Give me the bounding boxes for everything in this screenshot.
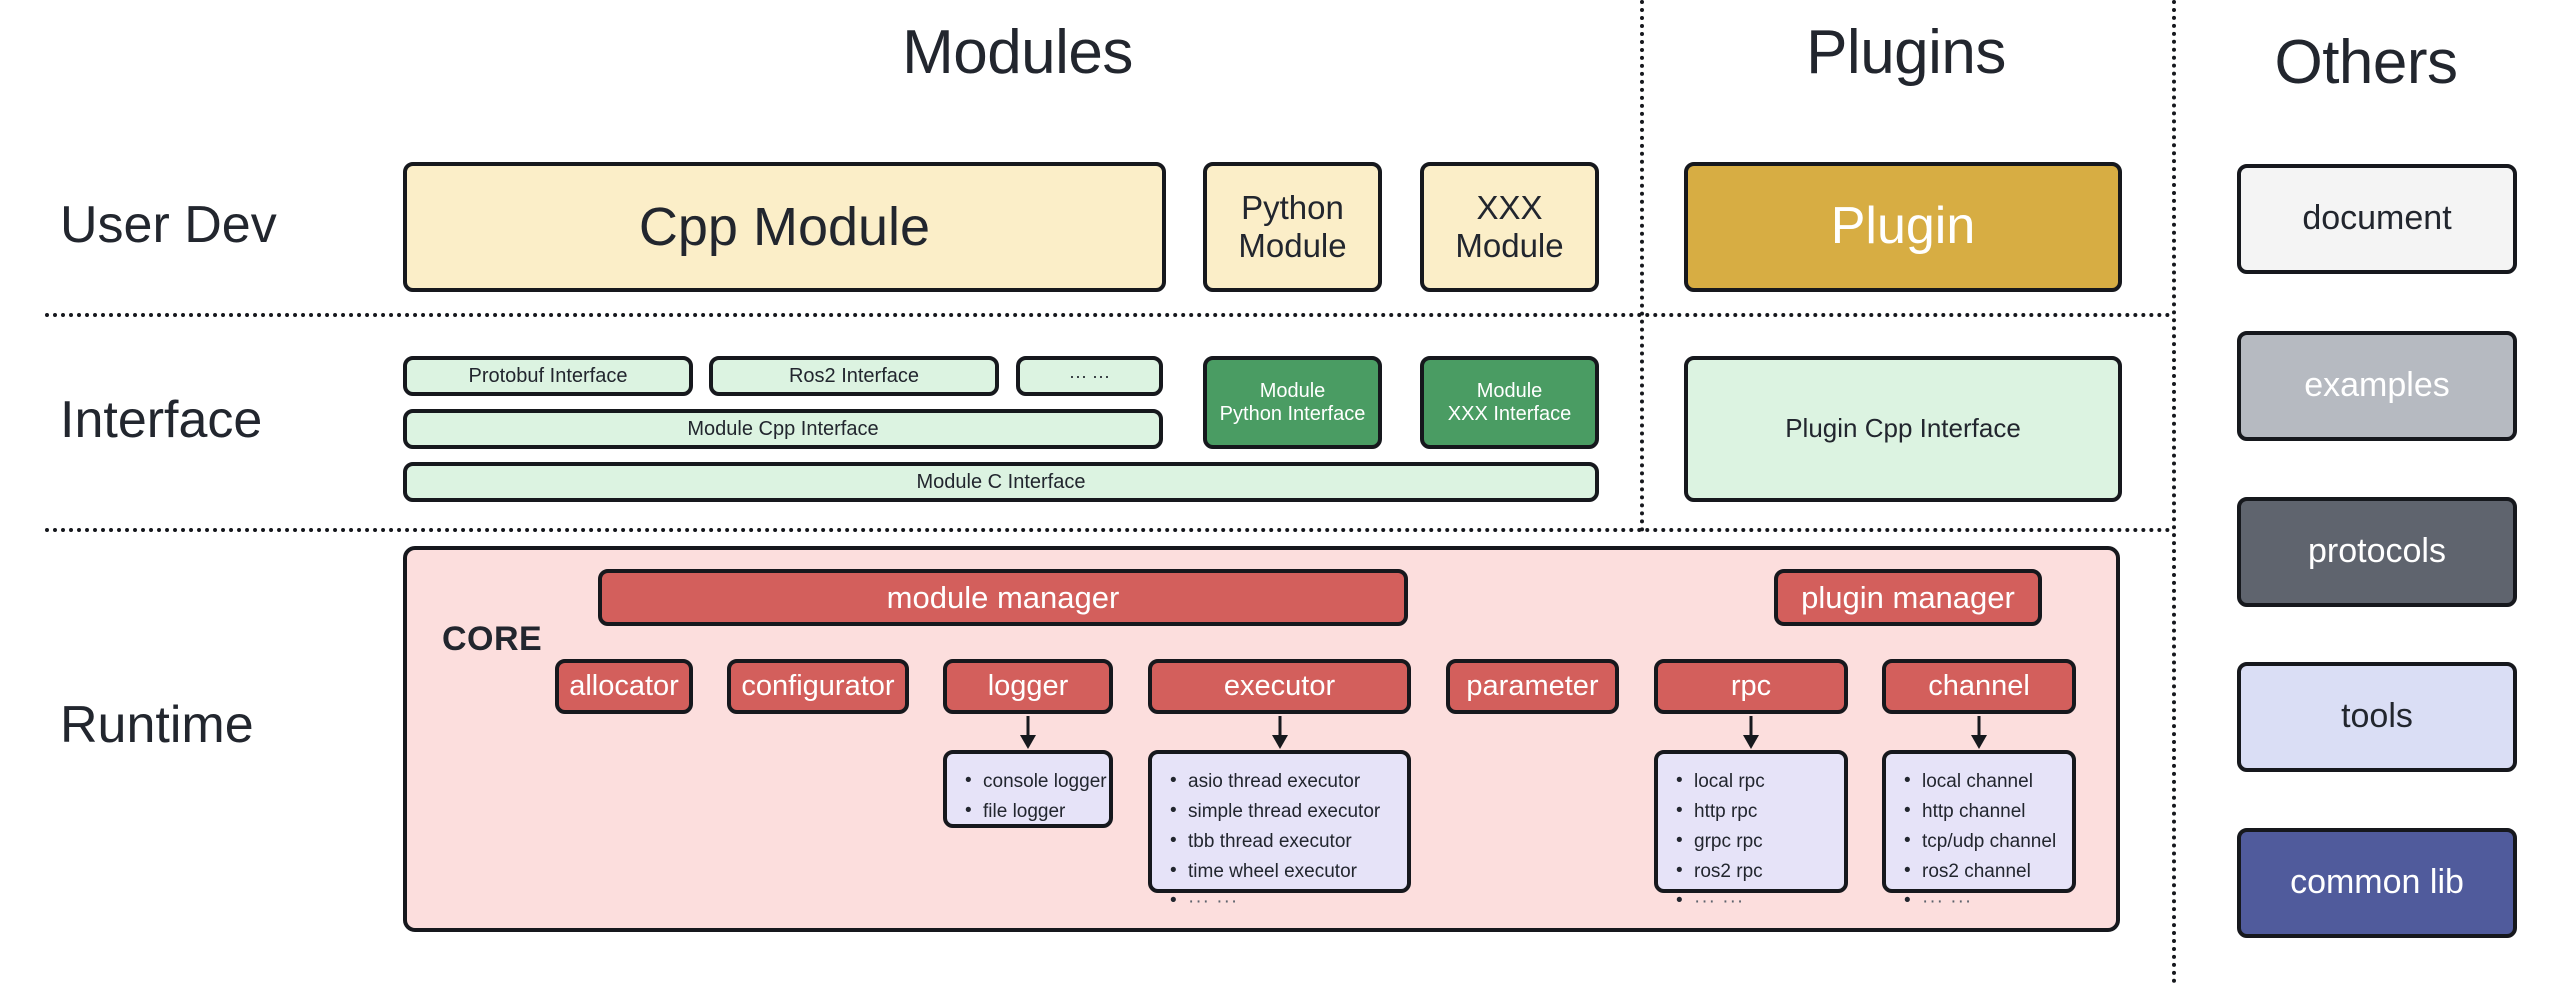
list-item: file logger <box>983 797 1097 827</box>
arrow-rpc-to-details <box>1727 716 1775 749</box>
list-item: local channel <box>1922 767 2060 797</box>
arrow-logger-to-details <box>1004 716 1052 749</box>
list-item: asio thread executor <box>1188 767 1395 797</box>
node-more-interface[interactable]: ··· ··· <box>1016 356 1163 396</box>
list-item: ··· ··· <box>1922 887 2060 917</box>
arrow-executor-to-details <box>1256 716 1304 749</box>
node-ros2-interface[interactable]: Ros2 Interface <box>709 356 999 396</box>
list-item: time wheel executor <box>1188 857 1395 887</box>
core-label: CORE <box>442 620 542 659</box>
column-title-plugins: Plugins <box>1640 0 2172 105</box>
list-item: tbb thread executor <box>1188 827 1395 857</box>
detail-channel-list: local channelhttp channeltcp/udp channel… <box>1900 767 2060 917</box>
node-rpc[interactable]: rpc <box>1654 659 1848 714</box>
node-plugin-manager[interactable]: plugin manager <box>1774 569 2042 626</box>
node-module-python-interface[interactable]: Module Python Interface <box>1203 356 1382 449</box>
list-item: grpc rpc <box>1694 827 1832 857</box>
detail-channel: local channelhttp channeltcp/udp channel… <box>1882 750 2076 893</box>
detail-logger-list: console loggerfile logger <box>961 767 1097 827</box>
node-module-c-interface[interactable]: Module C Interface <box>403 462 1599 502</box>
node-examples[interactable]: examples <box>2237 331 2517 441</box>
divider-modules-plugins <box>1640 0 1644 532</box>
node-common-lib[interactable]: common lib <box>2237 828 2517 938</box>
node-channel[interactable]: channel <box>1882 659 2076 714</box>
node-allocator[interactable]: allocator <box>555 659 693 714</box>
divider-plugins-others <box>2172 0 2176 984</box>
node-module-cpp-interface[interactable]: Module Cpp Interface <box>403 409 1163 449</box>
node-configurator[interactable]: configurator <box>727 659 909 714</box>
detail-executor: asio thread executorsimple thread execut… <box>1148 750 1411 893</box>
node-module-xxx-interface[interactable]: Module XXX Interface <box>1420 356 1599 449</box>
list-item: ··· ··· <box>1188 887 1395 917</box>
detail-logger: console loggerfile logger <box>943 750 1113 828</box>
arrow-channel-to-details <box>1955 716 2003 749</box>
divider-user-dev-interface <box>45 313 2172 317</box>
node-plugin[interactable]: Plugin <box>1684 162 2122 292</box>
node-protobuf-interface[interactable]: Protobuf Interface <box>403 356 693 396</box>
architecture-diagram: Modules Plugins Others User Dev Interfac… <box>0 0 2560 984</box>
column-title-others: Others <box>2172 10 2560 115</box>
list-item: http channel <box>1922 797 2060 827</box>
list-item: console logger <box>983 767 1097 797</box>
list-item: simple thread executor <box>1188 797 1395 827</box>
list-item: tcp/udp channel <box>1922 827 2060 857</box>
list-item: ··· ··· <box>1694 887 1832 917</box>
detail-rpc-list: local rpchttp rpcgrpc rpcros2 rpc··· ··· <box>1672 767 1832 917</box>
node-xxx-module[interactable]: XXX Module <box>1420 162 1599 292</box>
node-plugin-cpp-interface[interactable]: Plugin Cpp Interface <box>1684 356 2122 502</box>
node-protocols[interactable]: protocols <box>2237 497 2517 607</box>
detail-executor-list: asio thread executorsimple thread execut… <box>1166 767 1395 917</box>
node-module-manager[interactable]: module manager <box>598 569 1408 626</box>
node-tools[interactable]: tools <box>2237 662 2517 772</box>
column-title-modules: Modules <box>395 0 1640 105</box>
row-title-user-dev: User Dev <box>60 170 380 280</box>
list-item: ros2 channel <box>1922 857 2060 887</box>
list-item: ros2 rpc <box>1694 857 1832 887</box>
node-python-module[interactable]: Python Module <box>1203 162 1382 292</box>
divider-interface-runtime <box>45 528 2172 532</box>
node-parameter[interactable]: parameter <box>1446 659 1619 714</box>
detail-rpc: local rpchttp rpcgrpc rpcros2 rpc··· ··· <box>1654 750 1848 893</box>
node-executor[interactable]: executor <box>1148 659 1411 714</box>
list-item: http rpc <box>1694 797 1832 827</box>
node-logger[interactable]: logger <box>943 659 1113 714</box>
row-title-interface: Interface <box>60 365 380 475</box>
list-item: local rpc <box>1694 767 1832 797</box>
row-title-runtime: Runtime <box>60 670 380 780</box>
node-cpp-module[interactable]: Cpp Module <box>403 162 1166 292</box>
node-document[interactable]: document <box>2237 164 2517 274</box>
